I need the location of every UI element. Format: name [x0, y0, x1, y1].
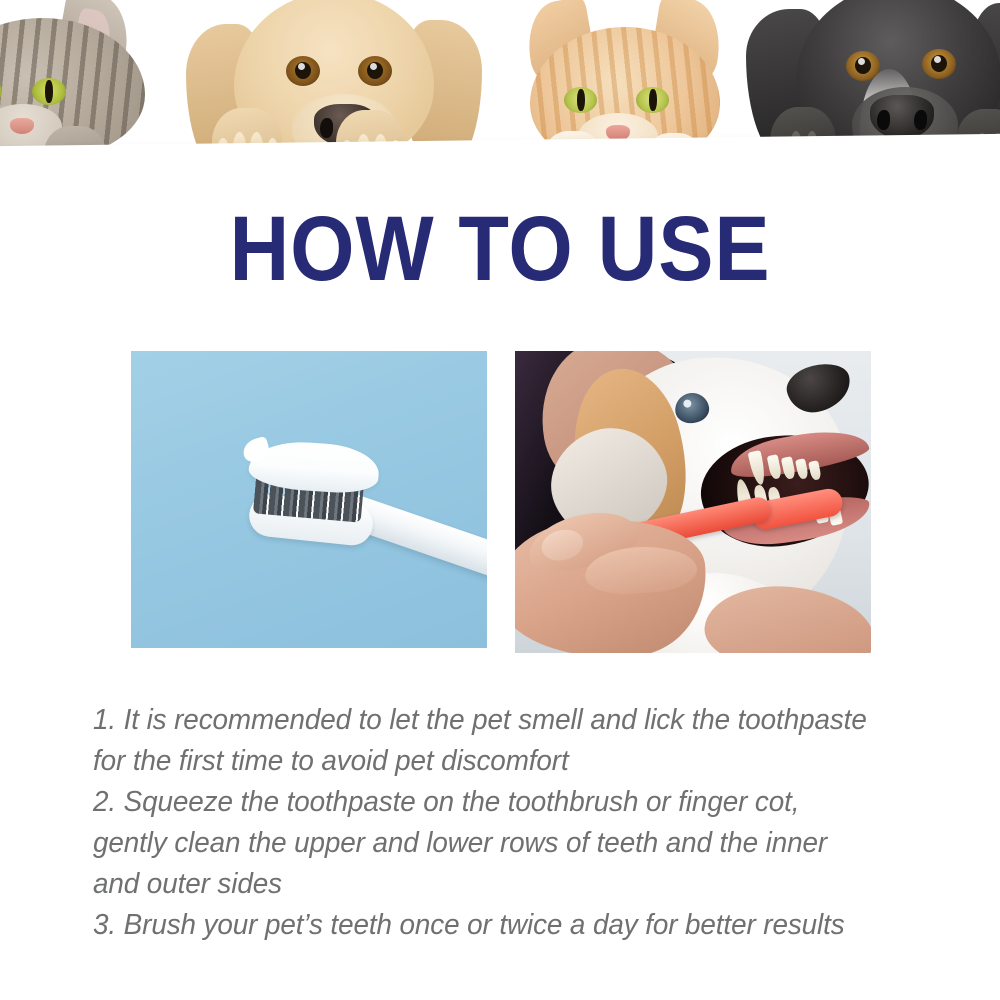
cat-pupil-right [649, 89, 657, 111]
instruction-line: for the first time to avoid pet discomfo… [93, 741, 919, 782]
pet-photo-banner [0, 0, 1000, 215]
dog-eye-glint-right [934, 56, 941, 63]
dog-eye-glint-left [858, 58, 865, 65]
photo-toothbrush [131, 351, 487, 648]
instruction-line: 2. Squeeze the toothpaste on the toothbr… [93, 782, 919, 823]
dog-eye-glint-left [298, 63, 305, 70]
instructions-block: 1. It is recommended to let the pet smel… [93, 700, 919, 946]
instruction-line: gently clean the upper and lower rows of… [93, 823, 919, 864]
photo-row [131, 351, 871, 653]
instruction-line: and outer sides [93, 864, 919, 905]
page-title: HOW TO USE [50, 206, 950, 292]
cat-pupil-left [577, 89, 585, 111]
cat-pupil-right [45, 80, 53, 103]
instruction-line: 1. It is recommended to let the pet smel… [93, 700, 919, 741]
dog-eye-glint-right [370, 63, 377, 70]
instruction-line: 3. Brush your pet’s teeth once or twice … [93, 905, 919, 946]
photo-dog-brushing [515, 351, 871, 653]
